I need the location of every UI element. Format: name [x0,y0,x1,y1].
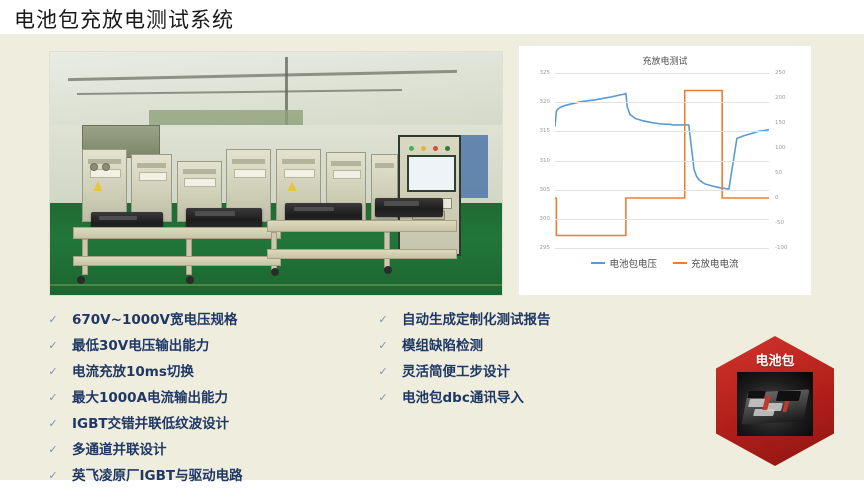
feature-item-label: 670V~1000V宽电压规格 [72,310,237,330]
feature-item-label: IGBT交错并联低纹波设计 [72,414,229,434]
feature-item: ✓电池包dbc通讯导入 [378,388,708,414]
chart-y2-tick-label: 150 [775,120,786,126]
feature-item: ✓最大1000A电流输出能力 [48,388,378,414]
chart-gridline [555,102,769,103]
photo-warning-icon [287,181,297,191]
feature-item: ✓电流充放10ms切换 [48,362,378,388]
photo-cabinet-label [284,169,315,178]
photo-cabinet-vent [137,163,166,168]
feature-list-right-column: ✓自动生成定制化测试报告✓模组缺陷检测✓灵活简便工步设计✓电池包dbc通讯导入 [378,310,708,492]
chart-y-tick-label: 295 [540,245,551,251]
chart-legend-label: 电池包电压 [609,256,657,270]
feature-item-label: 多通道并联设计 [72,440,167,460]
feature-item: ✓模组缺陷检测 [378,336,708,362]
photo-cabinet-label [139,172,167,181]
photo-floor-line [50,284,502,286]
charge-discharge-chart: 充放电测试 325320315310305300295 250200150100… [519,46,811,295]
feature-item-label: 电池包dbc通讯导入 [402,388,524,408]
feature-list-left-column: ✓670V~1000V宽电压规格✓最低30V电压输出能力✓电流充放10ms切换✓… [48,310,378,492]
check-icon: ✓ [378,336,388,356]
feature-item: ✓多通道并联设计 [48,440,378,466]
check-icon: ✓ [48,466,58,486]
chart-legend-swatch [591,262,605,264]
feature-item: ✓英飞凌原厂IGBT与驱动电路 [48,466,378,492]
feature-list: ✓670V~1000V宽电压规格✓最低30V电压输出能力✓电流充放10ms切换✓… [48,310,748,492]
check-icon: ✓ [48,388,58,408]
chart-y-tick-label: 320 [540,99,551,105]
chart-y-tick-label: 325 [540,70,551,76]
photo-console-screen [407,155,456,192]
chart-y2-tick-label: -100 [775,245,787,251]
check-icon: ✓ [48,336,58,356]
check-icon: ✓ [48,414,58,434]
chart-legend-item: 电池包电压 [591,256,657,270]
photo-test-console [398,135,461,257]
chart-y-tick-label: 315 [540,128,551,134]
photo-cart-shelf [267,249,457,259]
chart-legend-swatch [673,262,687,264]
check-icon: ✓ [48,310,58,330]
check-icon: ✓ [48,440,58,460]
feature-item-label: 灵活简便工步设计 [402,362,510,382]
chart-plot-area: 325320315310305300295 250200150100500-50… [555,73,769,248]
chart-gridline [555,219,769,220]
photo-battery-pack [375,198,443,217]
photo-cart [73,227,281,239]
feature-item: ✓670V~1000V宽电压规格 [48,310,378,336]
photo-indicator-lights [406,145,453,153]
feature-item-label: 英飞凌原厂IGBT与驱动电路 [72,466,243,486]
check-icon: ✓ [48,362,58,382]
check-icon: ✓ [378,388,388,408]
chart-title: 充放电测试 [519,54,811,67]
photo-cart-shelf [73,256,281,266]
chart-legend-label: 充放电电流 [691,256,739,270]
photo-cart-wheel [77,276,85,284]
badge-pack-cover [775,391,800,401]
feature-item: ✓IGBT交错并联低纹波设计 [48,414,378,440]
page-title: 电池包充放电测试系统 [14,4,234,34]
chart-y-tick-label: 305 [540,187,551,193]
chart-legend: 电池包电压充放电电流 [519,256,811,270]
chart-gridline [555,161,769,162]
chart-gridline [555,190,769,191]
chart-series-current [555,91,769,236]
chart-y2-tick-label: 100 [775,145,786,151]
photo-cabinet-label [333,170,361,179]
feature-item-label: 模组缺陷检测 [402,336,483,356]
chart-y2-tick-label: 200 [775,95,786,101]
photo-cabinet-vent [375,163,394,168]
badge-label: 电池包 [716,350,834,369]
check-icon: ✓ [378,310,388,330]
battery-pack-test-line-photo [50,52,502,295]
chart-y2-tick-label: 0 [775,195,779,201]
badge-pack-module [753,409,775,416]
check-icon: ✓ [378,362,388,382]
chart-y2-tick-label: -50 [775,220,784,226]
feature-item: ✓灵活简便工步设计 [378,362,708,388]
chart-y-tick-label: 310 [540,158,551,164]
photo-cabinet-vent [232,159,265,164]
photo-cabinet-vent [331,161,360,166]
feature-item-label: 最大1000A电流输出能力 [72,388,228,408]
feature-item-label: 自动生成定制化测试报告 [402,310,551,330]
photo-cabinet [82,149,127,222]
chart-series-voltage [555,93,769,189]
feature-item-label: 最低30V电压输出能力 [72,336,209,356]
photo-cart-wheel [186,276,194,284]
feature-item: ✓最低30V电压输出能力 [48,336,378,362]
chart-y2-tick-label: 50 [775,170,782,176]
chart-y2-tick-label: 250 [775,70,786,76]
chart-gridline [555,73,769,74]
slide-root: 电池包充放电测试系统 [0,0,864,497]
feature-item: ✓自动生成定制化测试报告 [378,310,708,336]
chart-y-tick-label: 300 [540,216,551,222]
photo-cabinet-vent [183,169,216,174]
battery-pack-badge: 电池包 [716,336,834,466]
feature-item-label: 电流充放10ms切换 [72,362,194,382]
badge-battery-pack-photo [737,372,813,436]
chart-gridline [555,248,769,249]
photo-cart [267,220,457,232]
photo-warning-icon [93,181,103,191]
chart-gridline [555,131,769,132]
photo-cabinet-label [184,178,215,187]
photo-cabinet-vent [282,159,315,164]
chart-legend-item: 充放电电流 [673,256,739,270]
photo-cabinet-label [234,169,265,178]
badge-pack-cover [747,391,765,398]
